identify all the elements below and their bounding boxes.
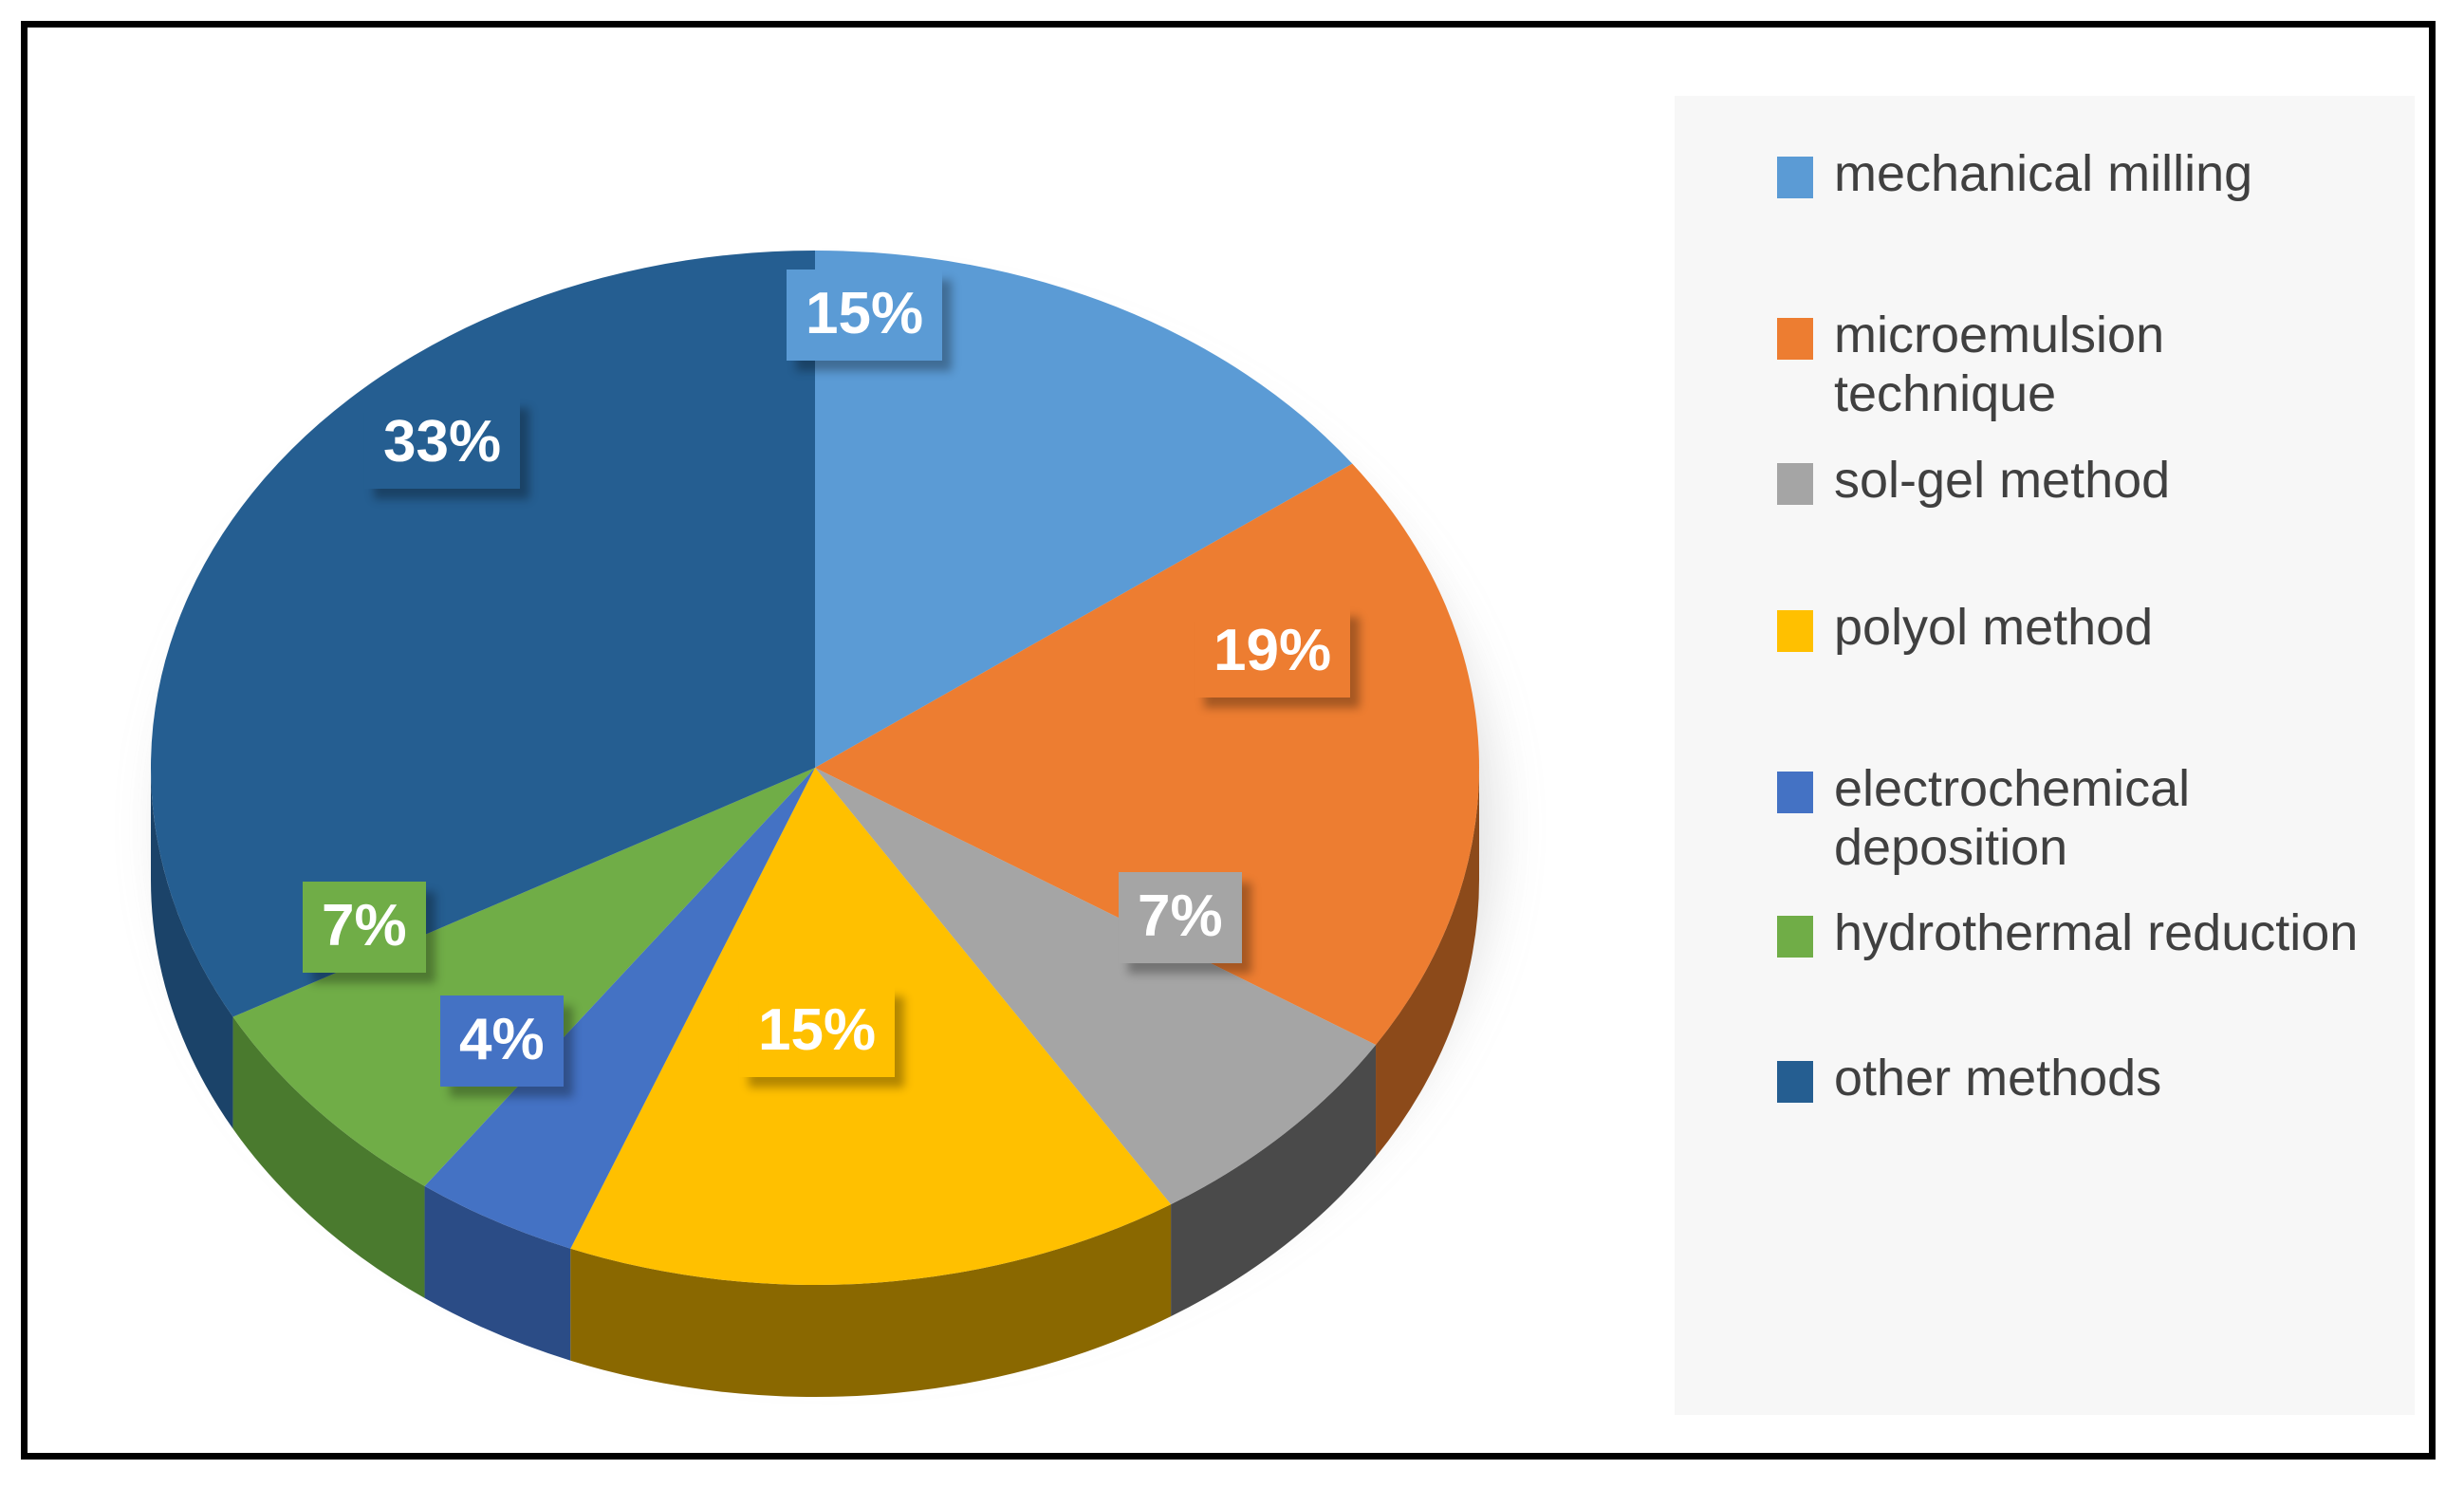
legend-item-microemulsion-technique[interactable]: microemulsion technique bbox=[1777, 307, 2384, 423]
pie-graphic: 15% 19% 7% 15% 4% 7% 33% bbox=[65, 122, 1603, 1356]
slice-label-hydrothermal-reduction: 7% bbox=[303, 882, 426, 973]
legend-item-electrochemical-deposition[interactable]: electrochemical deposition bbox=[1777, 760, 2384, 877]
legend-item-polyol-method[interactable]: polyol method bbox=[1777, 599, 2153, 658]
screenshot-root: 15% 19% 7% 15% 4% 7% 33% mechanical mill… bbox=[0, 0, 2464, 1488]
legend-swatch-icon bbox=[1777, 772, 1813, 813]
slice-label-electrochemical-deposition: 4% bbox=[440, 995, 564, 1087]
legend-swatch-icon bbox=[1777, 318, 1813, 360]
pie-chart-figure: 15% 19% 7% 15% 4% 7% 33% mechanical mill… bbox=[28, 28, 2429, 1453]
slice-label-polyol-method: 15% bbox=[739, 986, 895, 1077]
pie-top-faces bbox=[151, 251, 1479, 1285]
legend-item-other-methods[interactable]: other methods bbox=[1777, 1050, 2161, 1108]
legend-item-label: mechanical milling bbox=[1834, 145, 2252, 204]
legend-item-label: sol-gel method bbox=[1834, 452, 2170, 511]
legend-swatch-icon bbox=[1777, 610, 1813, 652]
legend-item-hydrothermal-reduction[interactable]: hydrothermal reduction bbox=[1777, 904, 2358, 963]
slice-label-other-methods: 33% bbox=[364, 398, 520, 489]
legend-swatch-icon bbox=[1777, 463, 1813, 505]
legend-item-mechanical-milling[interactable]: mechanical milling bbox=[1777, 145, 2252, 204]
legend-swatch-icon bbox=[1777, 916, 1813, 958]
slice-label-microemulsion-technique: 19% bbox=[1195, 606, 1350, 697]
slice-label-sol-gel-method: 7% bbox=[1119, 872, 1242, 963]
legend-swatch-icon bbox=[1777, 157, 1813, 198]
legend-item-label: electrochemical deposition bbox=[1834, 760, 2384, 877]
legend-item-sol-gel-method[interactable]: sol-gel method bbox=[1777, 452, 2170, 511]
figure-frame: 15% 19% 7% 15% 4% 7% 33% mechanical mill… bbox=[21, 21, 2436, 1460]
slice-label-mechanical-milling: 15% bbox=[787, 270, 942, 361]
legend-item-label: hydrothermal reduction bbox=[1834, 904, 2358, 963]
chart-legend: mechanical millingmicroemulsion techniqu… bbox=[1675, 96, 2415, 1415]
legend-item-label: other methods bbox=[1834, 1050, 2161, 1108]
legend-item-label: microemulsion technique bbox=[1834, 307, 2384, 423]
legend-swatch-icon bbox=[1777, 1061, 1813, 1103]
legend-item-label: polyol method bbox=[1834, 599, 2153, 658]
